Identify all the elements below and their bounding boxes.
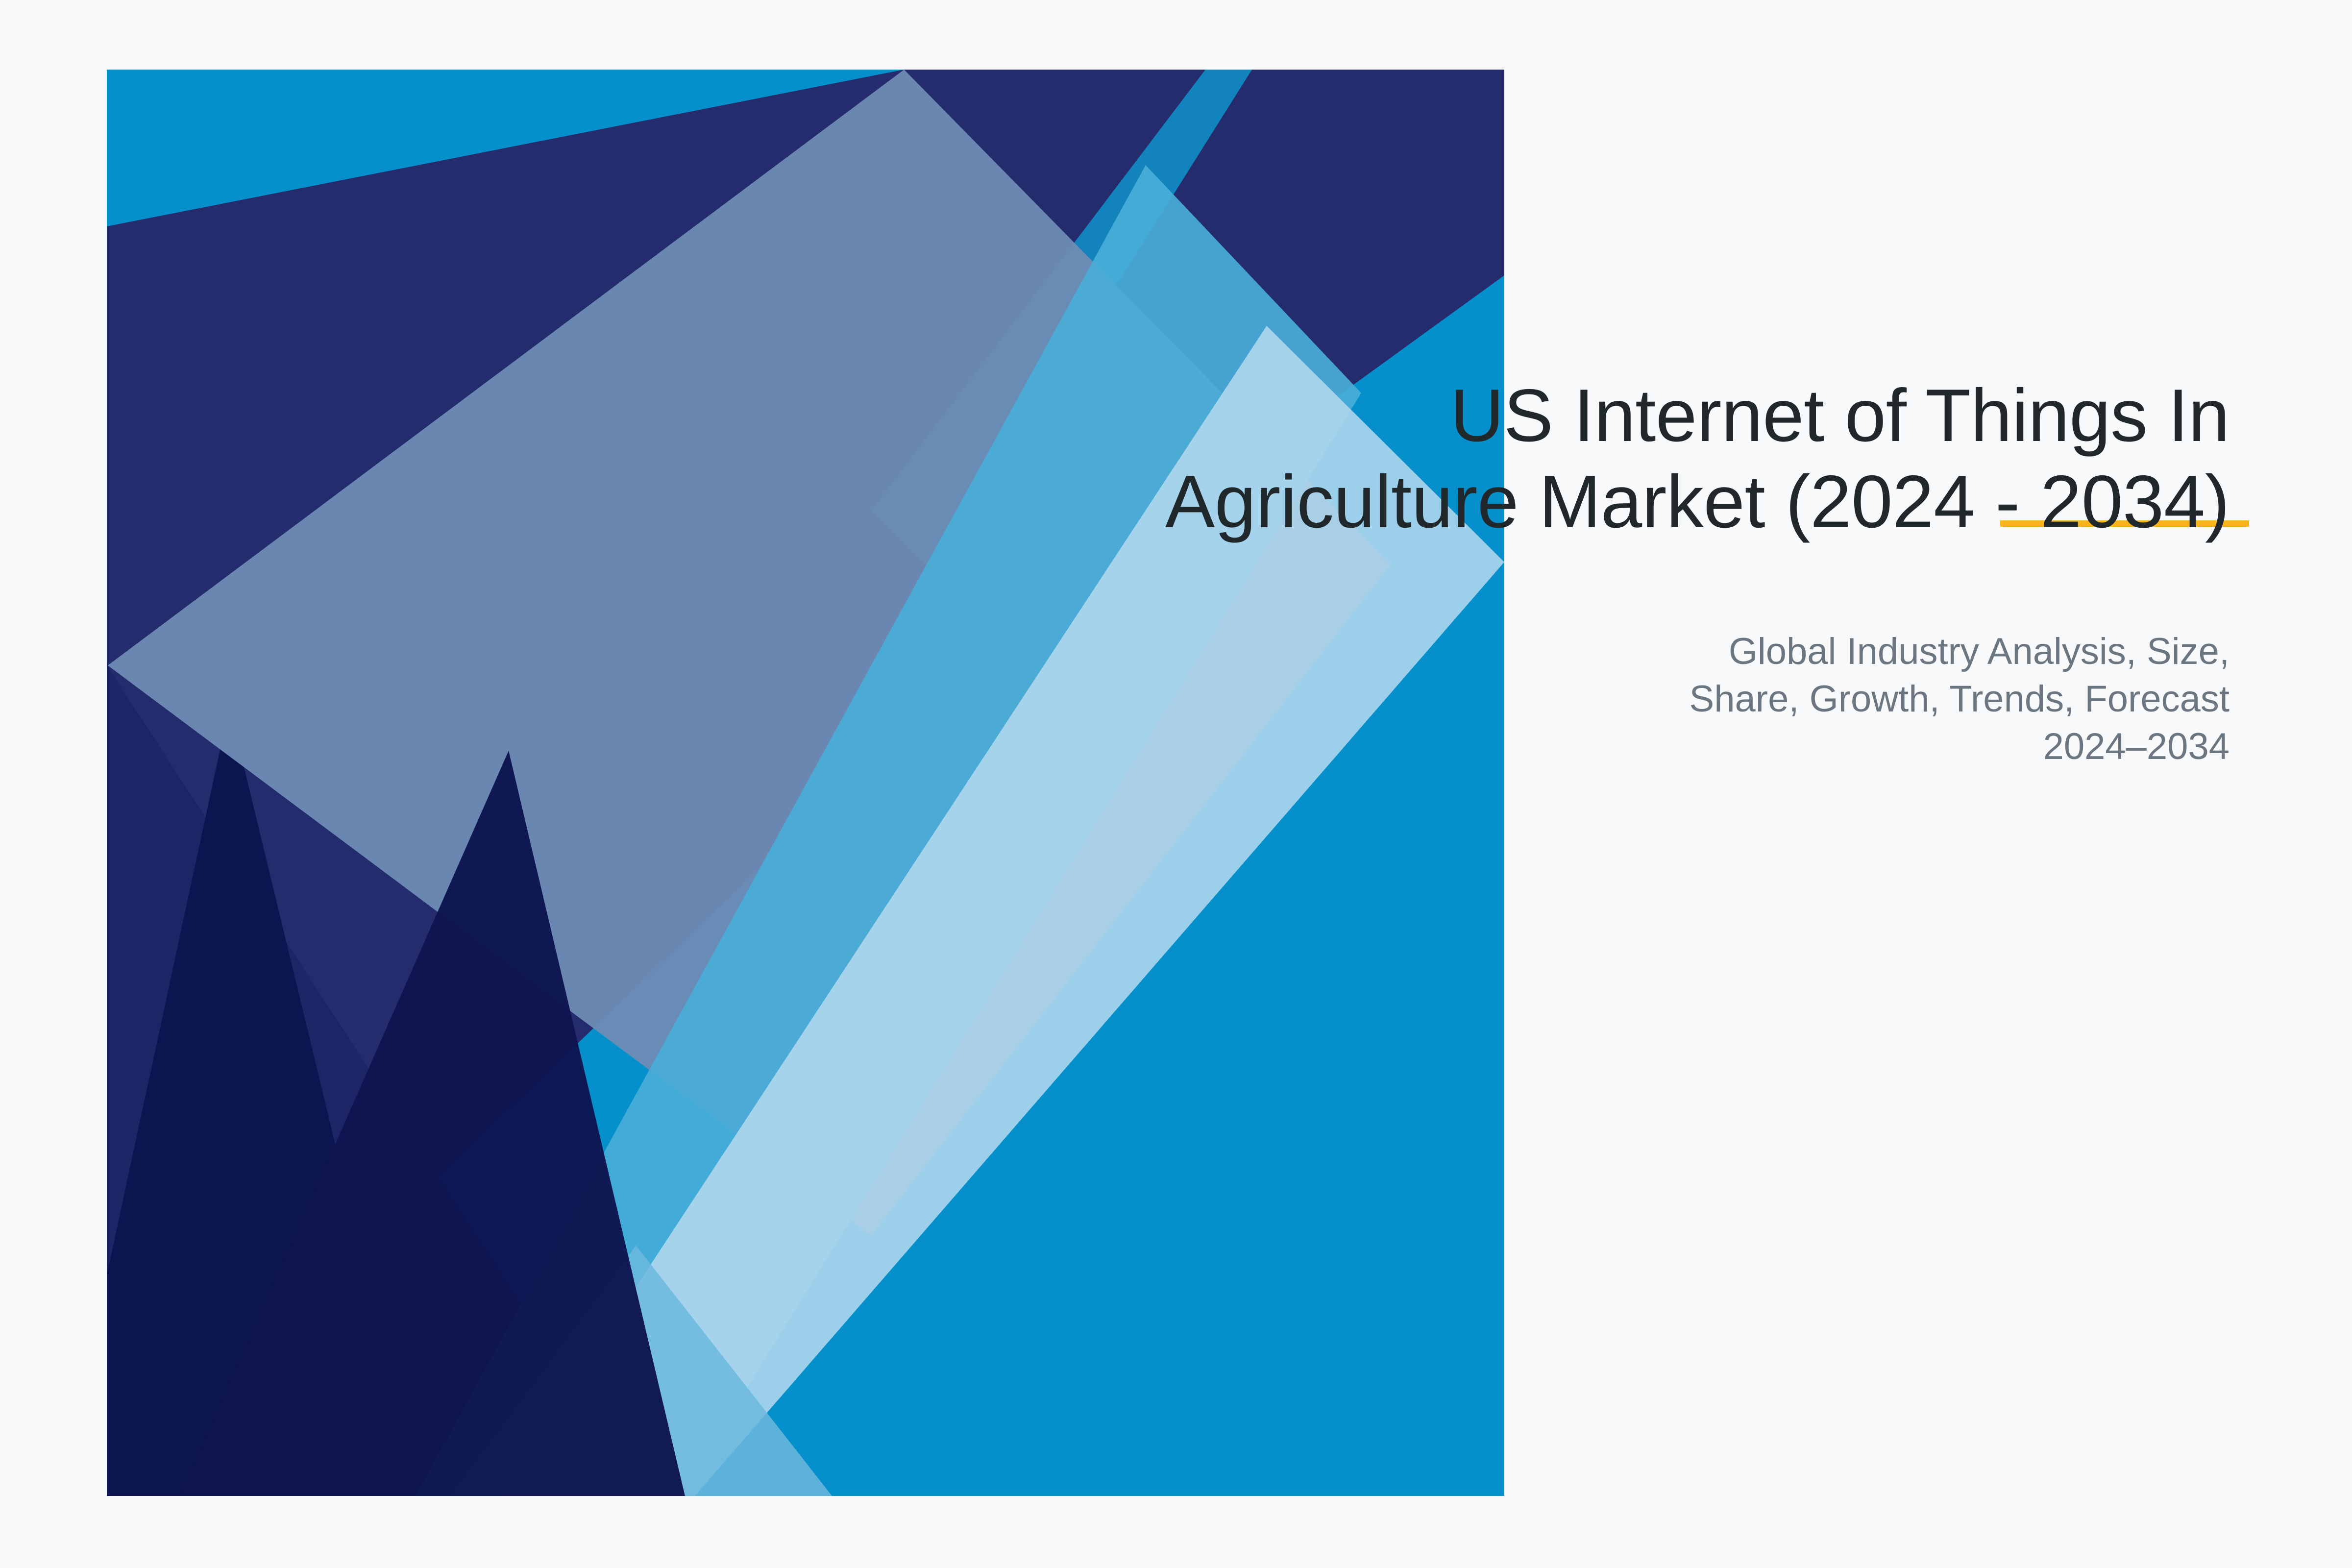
- cover-text-block: US Internet of Things In Agriculture Mar…: [1009, 372, 2229, 770]
- abstract-geometric-graphic: [107, 70, 1504, 1496]
- report-subtitle: Global Industry Analysis, Size, Share, G…: [1617, 545, 2229, 771]
- title-line-1: US Internet of Things In: [1450, 374, 2229, 457]
- report-cover: US Internet of Things In Agriculture Mar…: [0, 0, 2352, 1568]
- cover-artwork-panel: [107, 70, 1504, 1496]
- title-line-2: Agriculture Market (2024 - 2034): [1165, 460, 2229, 543]
- page-title: US Internet of Things In Agriculture Mar…: [1009, 372, 2229, 545]
